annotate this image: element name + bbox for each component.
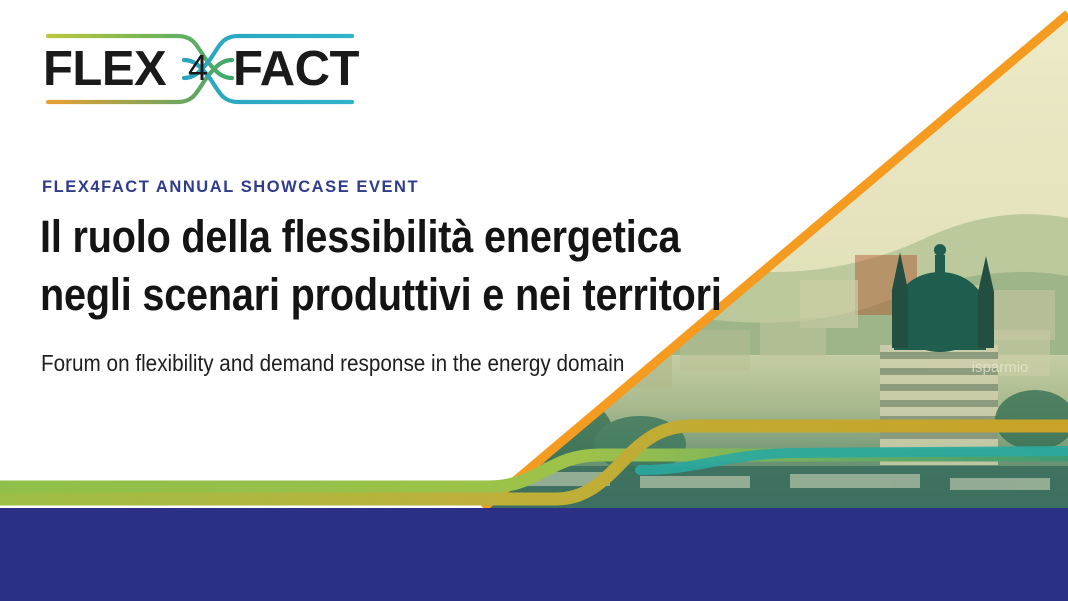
church-dome	[880, 244, 998, 465]
curve-gold	[0, 426, 1068, 499]
logo-word-flex: FLEX	[43, 28, 166, 110]
page-title: Il ruolo della flessibilità energetica n…	[40, 208, 656, 324]
logo-word-fact: FACT	[233, 28, 359, 110]
event-poster: isparmio FLEX 4 FACT FLEX4FACT ANNUAL	[0, 0, 1068, 601]
event-eyebrow: FLEX4FACT ANNUAL SHOWCASE EVENT	[42, 178, 419, 197]
event-subtitle: Forum on flexibility and demand response…	[41, 348, 725, 378]
page-title-line-1: Il ruolo della flessibilità energetica	[40, 208, 656, 266]
footer-bar: Organizzato da START4.0 Funded by the Eu…	[0, 508, 1068, 601]
building-signage: isparmio	[972, 359, 1029, 376]
flow-curves	[0, 426, 1068, 499]
curve-teal	[640, 451, 1068, 470]
logo-numeral-4: 4	[188, 48, 208, 88]
page-title-line-2: negli scenari produttivi e nei territori	[40, 266, 656, 324]
flex4fact-logo: FLEX 4 FACT	[40, 28, 358, 110]
curve-green	[0, 455, 1068, 487]
